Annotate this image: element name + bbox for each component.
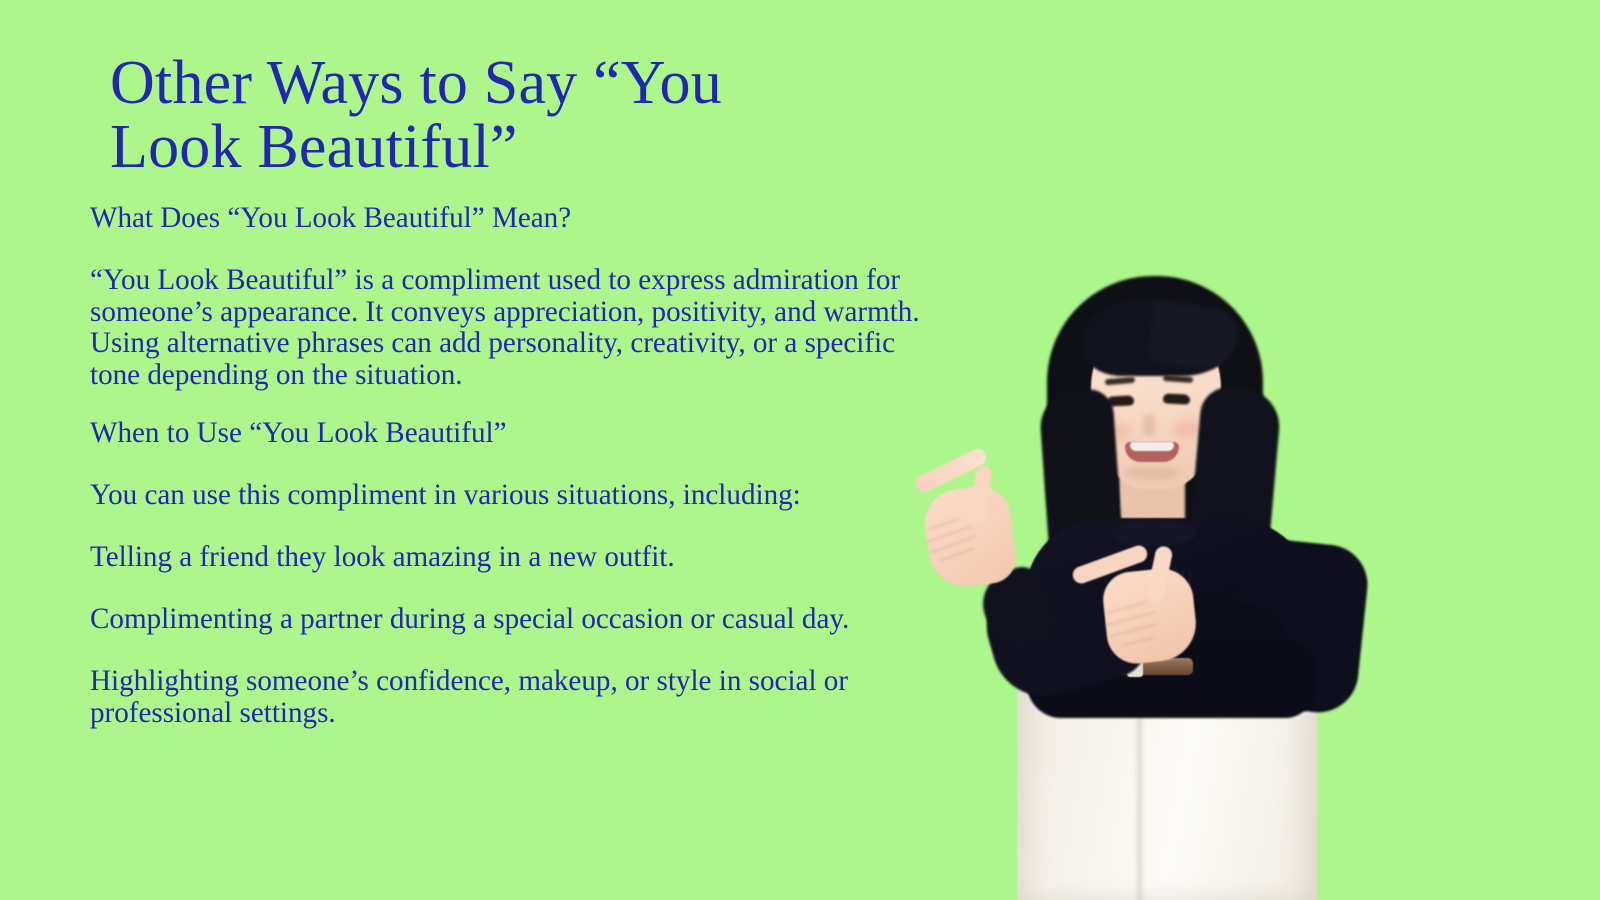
knuckles-right xyxy=(1105,600,1157,646)
slide-body: What Does “You Look Beautiful” Mean? “Yo… xyxy=(90,202,970,729)
sweater-collar xyxy=(1111,520,1197,546)
chin-shadow xyxy=(1125,466,1179,480)
person-photo xyxy=(905,270,1375,900)
knuckles-left xyxy=(927,518,975,562)
list-item-confidence-style: Highlighting someone’s confidence, makeu… xyxy=(90,665,944,729)
heading-when-to-use: When to Use “You Look Beautiful” xyxy=(90,417,944,449)
teeth xyxy=(1130,442,1174,451)
list-item-friend-outfit: Telling a friend they look amazing in a … xyxy=(90,541,944,573)
text-column: Other Ways to Say “You Look Beautiful” W… xyxy=(90,52,970,755)
eye-right xyxy=(1163,393,1190,404)
paragraph-definition: “You Look Beautiful” is a compliment use… xyxy=(90,264,944,391)
nose xyxy=(1143,414,1155,436)
list-item-partner-occasion: Complimenting a partner during a special… xyxy=(90,603,944,635)
page-title: Other Ways to Say “You Look Beautiful” xyxy=(110,52,970,180)
heading-what-does-it-mean: What Does “You Look Beautiful” Mean? xyxy=(90,202,944,234)
trousers-crease xyxy=(1137,700,1142,900)
paragraph-situations-intro: You can use this compliment in various s… xyxy=(90,479,944,511)
slide-canvas: Other Ways to Say “You Look Beautiful” W… xyxy=(0,0,1600,900)
